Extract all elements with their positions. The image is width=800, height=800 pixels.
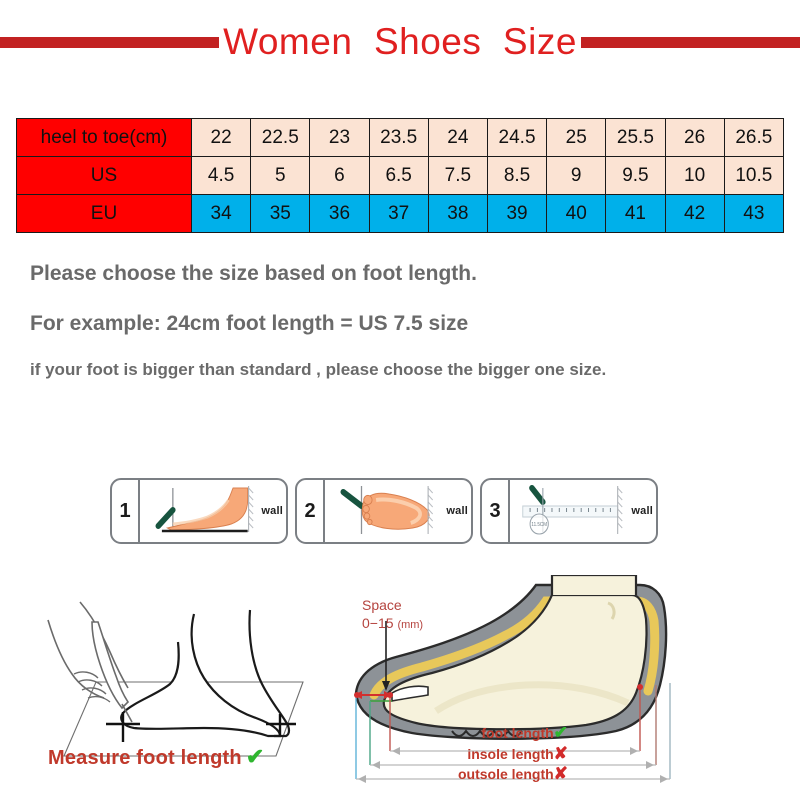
step-3-wall-label: wall — [631, 505, 653, 517]
table-row: US4.5566.57.58.599.51010.5 — [17, 157, 784, 195]
table-cell: 5 — [251, 157, 310, 195]
row-label: heel to toe(cm) — [17, 119, 192, 157]
space-callout: Space 0−15 (mm) — [362, 597, 423, 632]
step-number-2: 2 — [297, 480, 325, 542]
measure-foot-figure: Measure foot length✔ — [18, 578, 338, 778]
legend-row-insole-length: insole length✘ — [458, 744, 568, 765]
space-callout-value: 0−15 — [362, 615, 394, 631]
check-icon: ✔ — [554, 723, 568, 742]
table-cell: 43 — [724, 195, 783, 233]
table-cell: 39 — [487, 195, 546, 233]
cross-icon: ✘ — [554, 744, 568, 763]
cross-icon: ✘ — [554, 764, 568, 783]
table-cell: 26 — [665, 119, 724, 157]
table-cell: 4.5 — [192, 157, 251, 195]
step-2-illustration: wall — [325, 480, 471, 542]
check-icon: ✔ — [246, 744, 265, 769]
table-cell: 35 — [251, 195, 310, 233]
legend-label-insole-length: insole length — [467, 746, 553, 762]
table-cell: 42 — [665, 195, 724, 233]
title-rule-left — [0, 37, 219, 48]
size-table-body: heel to toe(cm)2222.52323.52424.52525.52… — [17, 119, 784, 233]
table-cell: 34 — [192, 195, 251, 233]
table-cell: 37 — [369, 195, 428, 233]
title-rule-right — [581, 37, 800, 48]
legend-row-foot-length: foot length✔ — [458, 723, 568, 744]
table-cell: 26.5 — [724, 119, 783, 157]
note-bigger-size: if your foot is bigger than standard , p… — [30, 360, 790, 380]
table-cell: 25 — [547, 119, 606, 157]
step-3-illustration: 11.5CM wall — [510, 480, 656, 542]
step-3-callout-text: 11.5CM — [531, 522, 547, 528]
table-cell: 23 — [310, 119, 369, 157]
shoe-cross-section-figure: Space 0−15 (mm) foot length✔ insole leng… — [340, 575, 685, 787]
table-cell: 9.5 — [606, 157, 665, 195]
sizing-notes: Please choose the size based on foot len… — [30, 262, 790, 380]
table-cell: 6.5 — [369, 157, 428, 195]
step-number-3: 3 — [482, 480, 510, 542]
step-1-illustration: wall — [140, 480, 286, 542]
table-row: EU34353637383940414243 — [17, 195, 784, 233]
step-number-1: 1 — [112, 480, 140, 542]
legend-label-foot-length: foot length — [481, 725, 553, 741]
step-2-wall-label: wall — [446, 505, 468, 517]
legend-row-outsole-length: outsole length✘ — [458, 764, 568, 785]
step-panel-1: 1 wall — [110, 478, 288, 544]
table-cell: 36 — [310, 195, 369, 233]
table-row: heel to toe(cm)2222.52323.52424.52525.52… — [17, 119, 784, 157]
table-cell: 6 — [310, 157, 369, 195]
page-title: Women Shoes Size — [219, 21, 581, 63]
measure-steps: 1 wall 2 — [110, 478, 658, 544]
table-cell: 9 — [547, 157, 606, 195]
row-label: EU — [17, 195, 192, 233]
space-callout-title: Space — [362, 597, 423, 615]
table-cell: 7.5 — [428, 157, 487, 195]
note-choose-size: Please choose the size based on foot len… — [30, 262, 790, 286]
table-cell: 10.5 — [724, 157, 783, 195]
table-cell: 24 — [428, 119, 487, 157]
table-cell: 23.5 — [369, 119, 428, 157]
measure-foot-caption: Measure foot length✔ — [48, 744, 264, 770]
page-title-band: Women Shoes Size — [0, 18, 800, 66]
table-cell: 25.5 — [606, 119, 665, 157]
legend-label-outsole-length: outsole length — [458, 766, 554, 782]
table-cell: 38 — [428, 195, 487, 233]
step-1-wall-label: wall — [261, 505, 283, 517]
length-legend: foot length✔ insole length✘ outsole leng… — [458, 723, 568, 785]
table-cell: 41 — [606, 195, 665, 233]
table-cell: 8.5 — [487, 157, 546, 195]
table-cell: 40 — [547, 195, 606, 233]
step-panel-2: 2 wall — [295, 478, 473, 544]
note-example: For example: 24cm foot length = US 7.5 s… — [30, 312, 790, 336]
row-label: US — [17, 157, 192, 195]
size-conversion-table: heel to toe(cm)2222.52323.52424.52525.52… — [16, 118, 784, 233]
measure-foot-caption-text: Measure foot length — [48, 747, 242, 769]
table-cell: 22.5 — [251, 119, 310, 157]
space-callout-value-row: 0−15 (mm) — [362, 615, 423, 633]
step-panel-3: 3 11.5CM — [480, 478, 658, 544]
space-callout-unit: (mm) — [397, 619, 423, 631]
table-cell: 24.5 — [487, 119, 546, 157]
table-cell: 10 — [665, 157, 724, 195]
table-cell: 22 — [192, 119, 251, 157]
